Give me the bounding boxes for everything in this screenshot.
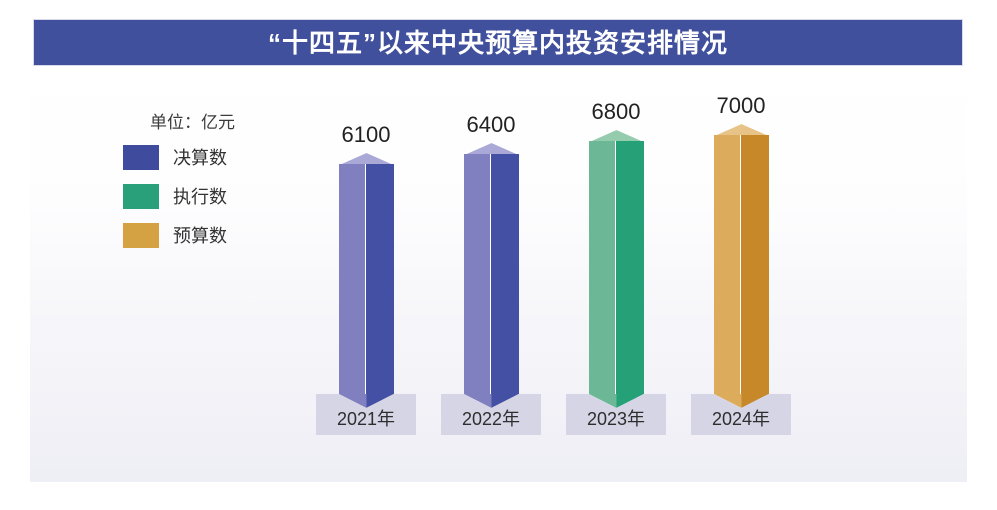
bar-face-right <box>616 141 644 394</box>
bar-face-left <box>464 154 492 394</box>
year-label: 2024年 <box>691 410 791 428</box>
bar-face-right <box>491 154 519 394</box>
bar-value-label: 6400 <box>467 114 516 136</box>
bar-value-label: 6100 <box>342 124 391 146</box>
bar-face-right <box>366 164 394 394</box>
year-label: 2021年 <box>316 410 416 428</box>
year-label-plaque: 2023年 <box>566 394 666 435</box>
bar-body <box>339 164 394 394</box>
year-label-plaque: 2021年 <box>316 394 416 435</box>
bar-value-label: 6800 <box>592 101 641 123</box>
bar-face-right <box>741 135 769 394</box>
bar-column <box>589 129 644 394</box>
bar-column <box>714 123 769 394</box>
page-title: “十四五”以来中央预算内投资安排情况 <box>268 30 728 56</box>
year-label: 2022年 <box>441 410 541 428</box>
bar-face-left <box>714 135 742 394</box>
year-label: 2023年 <box>566 410 666 428</box>
year-label-plaque: 2022年 <box>441 394 541 435</box>
bar-body <box>464 154 519 394</box>
chart-panel: 单位：亿元 决算数 执行数 预算数 61002021年64002022年6800… <box>30 72 967 482</box>
bar-face-left <box>589 141 617 394</box>
bar-body <box>589 141 644 394</box>
bar-column <box>339 152 394 394</box>
bar-body <box>714 135 769 394</box>
infographic-root: “十四五”以来中央预算内投资安排情况 单位：亿元 决算数 执行数 预算数 610… <box>0 0 997 510</box>
bars-area: 61002021年64002022年68002023年70002024年 <box>30 72 967 482</box>
title-banner: “十四五”以来中央预算内投资安排情况 <box>33 19 963 66</box>
bar-face-left <box>339 164 367 394</box>
bar-column <box>464 142 519 394</box>
year-label-plaque: 2024年 <box>691 394 791 435</box>
bar-value-label: 7000 <box>717 95 766 117</box>
